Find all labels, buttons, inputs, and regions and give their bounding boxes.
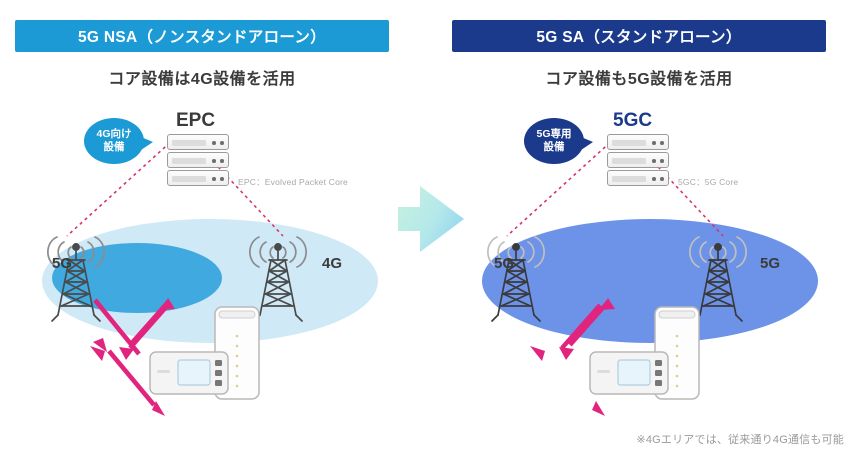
callout-line-1: 5G専用 [536,128,571,141]
server-unit [607,134,669,150]
banner-5g-nsa: 5G NSA（ノンスタンドアローン） [15,20,389,52]
banner-5g-sa: 5G SA（スタンドアローン） [452,20,826,52]
callout-line-1: 4G向け [96,128,131,141]
tower-label-right-panel-right-5g: 5G [760,255,780,272]
server-stack-5gc [607,134,669,188]
callout-line-2: 設備 [544,141,565,154]
subheading-right: コア設備も5G設備を活用 [452,64,826,90]
tower-label-right-4g: 4G [322,255,342,272]
core-label-epc: EPC [176,110,215,132]
callout-line-2: 設備 [104,141,125,154]
server-unit [167,152,229,168]
coverage-ellipse-5g [52,243,222,313]
core-label-5gc: 5GC [613,110,652,132]
coverage-ellipse-5g-full [482,219,818,343]
core-caption-5gc: 5GC：5G Core [678,176,738,188]
server-unit [607,152,669,168]
server-stack-epc [167,134,229,188]
server-unit [607,170,669,186]
server-unit [167,170,229,186]
callout-bubble-5g: 5G専用 設備 [524,118,584,164]
tower-label-left-5g: 5G [52,255,72,272]
diagram-canvas: 5G NSA（ノンスタンドアローン） 5G SA（スタンドアローン） コア設備は… [0,0,860,461]
callout-bubble-4g: 4G向け 設備 [84,118,144,164]
core-caption-epc: EPC：Evolved Packet Core [238,176,348,188]
transition-arrow-icon [396,182,466,256]
server-unit [167,134,229,150]
tower-label-right-panel-left-5g: 5G [494,255,514,272]
uplink-downlink-arrows [530,346,605,416]
footnote-text: ※4Gエリアでは、従来通り4G通信も可能 [636,431,844,447]
subheading-left: コア設備は4G設備を活用 [15,64,389,90]
